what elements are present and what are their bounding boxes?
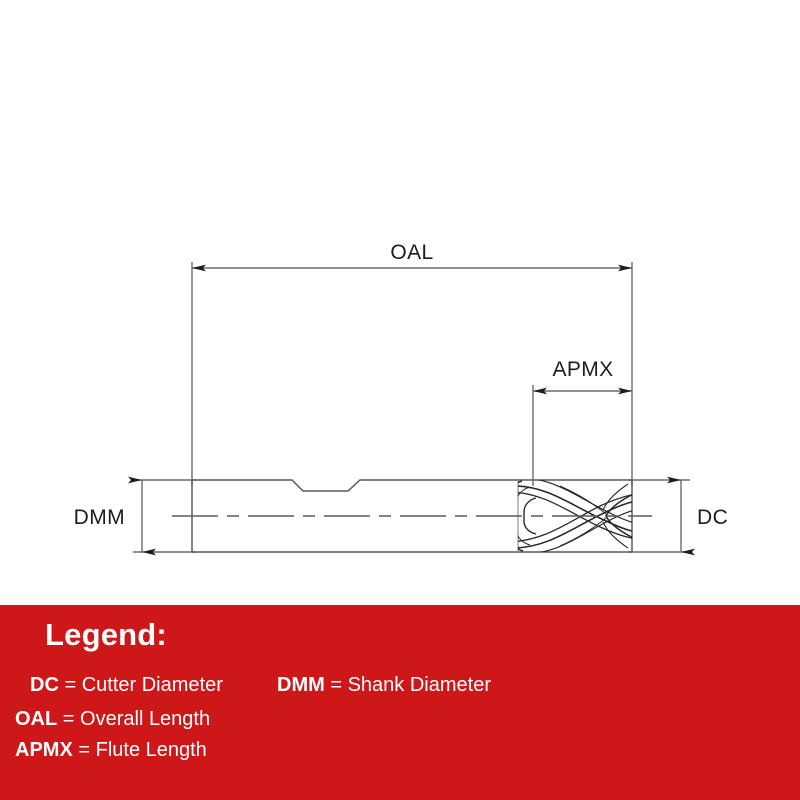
extension-lines [133,262,690,552]
legend-title: Legend: [45,617,167,653]
legend-meaning-dc: Cutter Diameter [82,674,223,696]
dimension-label-oal: OAL [390,241,433,264]
legend-entry-oal: OAL = Overall Length [15,708,210,731]
legend-equals-dmm: = [330,674,342,696]
dimension-dmm: DMM [74,480,142,552]
legend-entry-apmx: APMX = Flute Length [15,739,207,762]
end-mill-drawing-svg: OAL APMX DMM DC [0,0,800,605]
dimension-label-apmx: APMX [552,358,613,381]
legend-abbr-dc: DC [30,674,59,696]
dimension-label-dmm: DMM [74,506,125,529]
legend-meaning-apmx: Flute Length [96,739,207,761]
flute-helix-b2 [506,494,636,542]
legend-abbr-dmm: DMM [277,674,325,696]
dimension-label-dc: DC [697,506,728,529]
legend-abbr-oal: OAL [15,708,57,730]
legend-equals-apmx: = [78,739,90,761]
technical-drawing: OAL APMX DMM DC [0,0,800,605]
dimension-dc: DC [681,480,728,552]
legend-equals-dc: = [64,674,76,696]
legend-banner: Legend: DC = Cutter Diameter DMM = Shank… [0,605,800,800]
legend-abbr-apmx: APMX [15,739,73,761]
dimension-apmx: APMX [533,358,632,391]
legend-entry-dc: DC = Cutter Diameter [30,674,223,697]
legend-entry-dmm: DMM = Shank Diameter [277,674,491,697]
flute-helix-b1 [512,501,636,548]
dimension-oal: OAL [192,241,632,268]
legend-meaning-dmm: Shank Diameter [348,674,491,696]
end-mill-spec-sheet: OAL APMX DMM DC [0,0,800,800]
legend-meaning-oal: Overall Length [80,708,210,730]
legend-equals-oal: = [63,708,75,730]
